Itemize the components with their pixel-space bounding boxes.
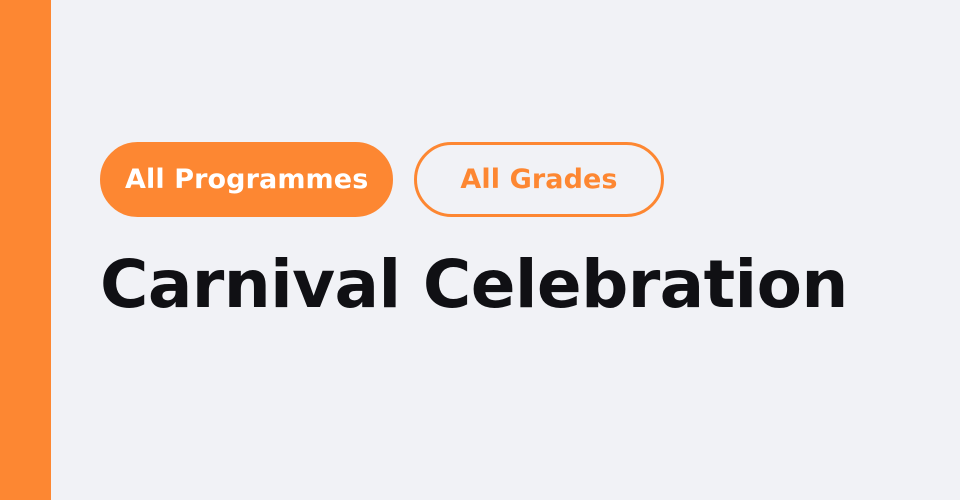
page-title: Carnival Celebration bbox=[100, 252, 848, 318]
filter-pill-all-grades-label: All Grades bbox=[460, 166, 617, 193]
filter-pill-all-programmes-label: All Programmes bbox=[125, 166, 368, 193]
banner-content: All Programmes All Grades Carnival Celeb… bbox=[100, 0, 920, 500]
filter-pill-row: All Programmes All Grades bbox=[100, 142, 664, 217]
filter-pill-all-programmes[interactable]: All Programmes bbox=[100, 142, 393, 217]
left-accent-bar bbox=[0, 0, 51, 500]
filter-pill-all-grades[interactable]: All Grades bbox=[414, 142, 663, 217]
event-banner-card: All Programmes All Grades Carnival Celeb… bbox=[0, 0, 960, 500]
